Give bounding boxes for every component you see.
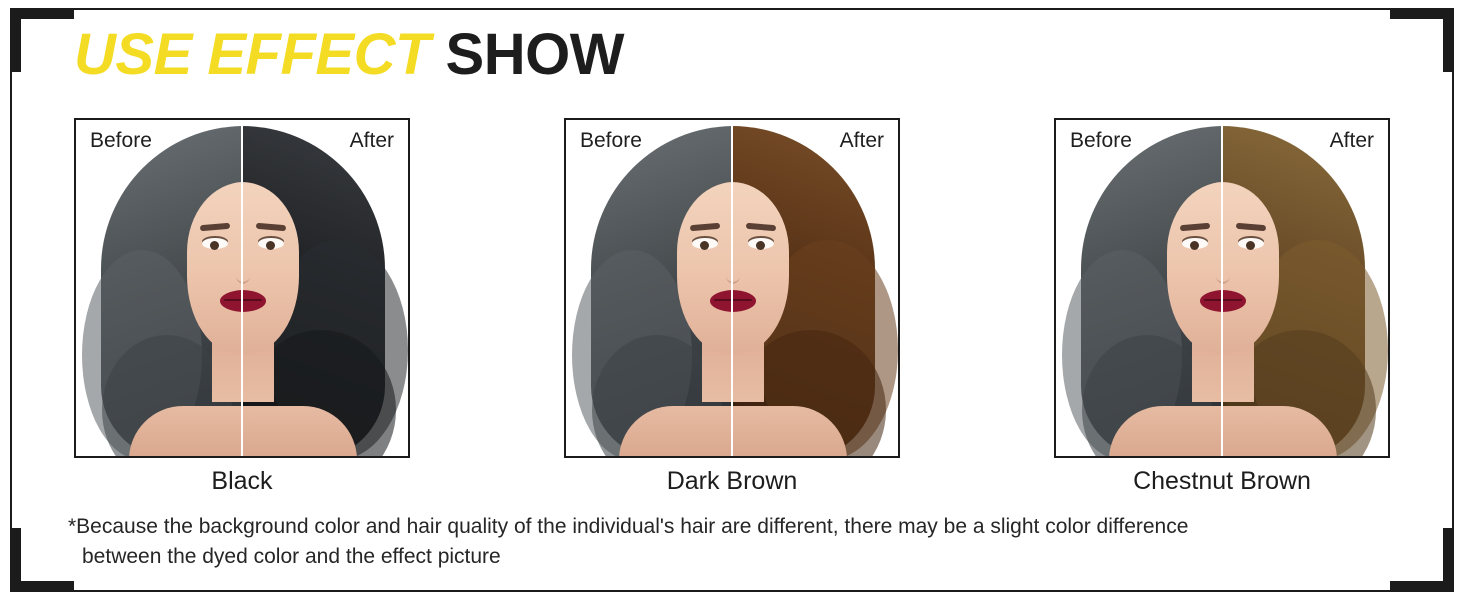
shade-caption: Black bbox=[211, 468, 272, 496]
disclaimer-line-2: between the dyed color and the effect pi… bbox=[68, 542, 1408, 572]
shade-panel-dark-brown: Before After Dark Brown bbox=[564, 118, 900, 498]
use-effect-show-banner: USE EFFECT SHOW bbox=[0, 0, 1464, 600]
after-label: After bbox=[840, 130, 884, 151]
page-title-accent: USE EFFECT bbox=[74, 22, 430, 87]
after-half-dark-brown bbox=[732, 120, 898, 456]
before-after-photo-black: Before After bbox=[74, 118, 410, 458]
after-label: After bbox=[350, 130, 394, 151]
shade-caption: Chestnut Brown bbox=[1133, 468, 1311, 496]
before-label: Before bbox=[1070, 130, 1132, 151]
before-half-chestnut-brown bbox=[1056, 120, 1222, 456]
corner-bracket-top-left bbox=[10, 8, 74, 72]
shade-comparison-row: Before After Black bbox=[74, 118, 1390, 498]
before-label: Before bbox=[90, 130, 152, 151]
before-label: Before bbox=[580, 130, 642, 151]
before-half-black bbox=[76, 120, 242, 456]
after-half-chestnut-brown bbox=[1222, 120, 1388, 456]
before-after-divider bbox=[1221, 120, 1223, 456]
corner-bracket-bottom-left bbox=[10, 528, 74, 592]
page-title-plain: SHOW bbox=[446, 22, 624, 87]
disclaimer-line-1: *Because the background color and hair q… bbox=[68, 515, 1188, 538]
before-after-photo-dark-brown: Before After bbox=[564, 118, 900, 458]
shade-caption: Dark Brown bbox=[667, 468, 798, 496]
corner-bracket-top-right bbox=[1390, 8, 1454, 72]
page-title: USE EFFECT SHOW bbox=[74, 26, 624, 84]
before-after-divider bbox=[731, 120, 733, 456]
shade-panel-chestnut-brown: Before After Chestnut Brown bbox=[1054, 118, 1390, 498]
disclaimer-note: *Because the background color and hair q… bbox=[68, 512, 1408, 573]
before-half-dark-brown bbox=[566, 120, 732, 456]
shade-panel-black: Before After Black bbox=[74, 118, 410, 498]
after-half-black bbox=[242, 120, 408, 456]
after-label: After bbox=[1330, 130, 1374, 151]
before-after-divider bbox=[241, 120, 243, 456]
before-after-photo-chestnut-brown: Before After bbox=[1054, 118, 1390, 458]
